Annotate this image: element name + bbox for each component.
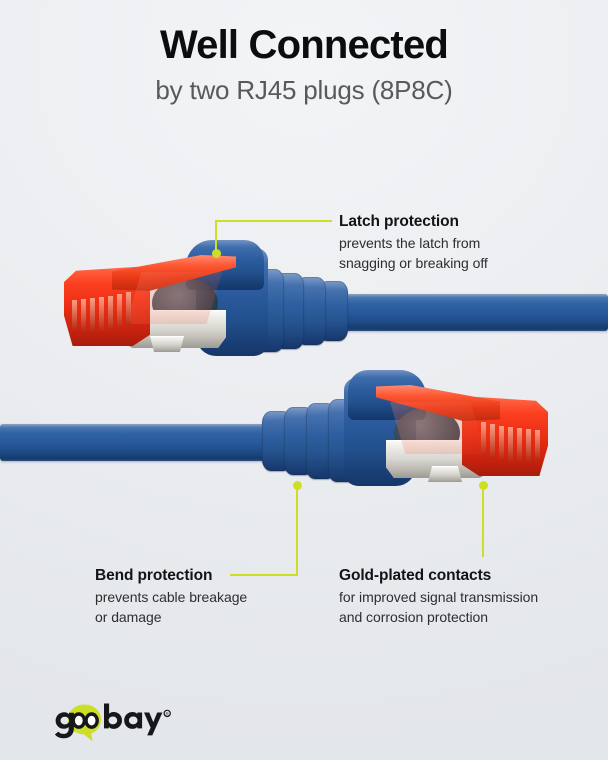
upper-metal-shield-lip [150, 336, 184, 352]
callout-line-1: prevents cable breakage [95, 587, 330, 607]
upper-contact-slot [108, 296, 113, 330]
lower-connector-gloss [390, 402, 486, 454]
lower-metal-shield-lip [428, 466, 462, 482]
lower-contact-slot [526, 429, 531, 461]
goobay-logo: R [48, 702, 188, 742]
page-title: Well Connected [0, 24, 608, 66]
logo-letter-o-2 [86, 714, 97, 727]
callout-line-2: snagging or breaking off [339, 253, 569, 273]
bend-leader-vertical [296, 485, 298, 576]
upper-cable [340, 294, 608, 331]
callout-bend-protection: Bend protection prevents cable breakage … [95, 566, 330, 627]
goobay-logo-svg: R [48, 702, 188, 742]
callout-line-2: and corrosion protection [339, 607, 579, 627]
callout-gold-plated-contacts: Gold-plated contacts for improved signal… [339, 566, 579, 627]
upper-contact-slot [72, 300, 77, 330]
infographic-canvas: Well Connected by two RJ45 plugs (8P8C) [0, 0, 608, 760]
callout-line-1: for improved signal transmission [339, 587, 579, 607]
page-subtitle: by two RJ45 plugs (8P8C) [0, 76, 608, 106]
callout-heading: Gold-plated contacts [339, 566, 579, 585]
upper-contact-slot [126, 292, 131, 325]
logo-letter-o-1 [73, 714, 84, 727]
logo-letter-g [55, 712, 74, 738]
upper-contact-slot [99, 297, 104, 331]
upper-contact-slot [90, 298, 95, 331]
lower-contact-slot [517, 428, 522, 461]
lower-contact-slot [535, 430, 540, 460]
lower-contact-slot [508, 427, 513, 461]
lower-contact-slot [490, 424, 495, 458]
contacts-leader-vertical [482, 485, 484, 557]
logo-letter-y [144, 713, 162, 736]
callout-line-2: or damage [95, 607, 330, 627]
callout-heading: Bend protection [95, 566, 330, 585]
callout-heading: Latch protection [339, 212, 569, 231]
logo-letter-a [124, 712, 142, 729]
lower-contact-slot [481, 422, 486, 455]
lower-contact-slot [499, 426, 504, 460]
upper-connector-gloss [126, 272, 222, 324]
logo-letter-b [104, 704, 122, 729]
upper-contact-slot [81, 299, 86, 331]
callout-line-1: prevents the latch from [339, 233, 569, 253]
latch-leader-vertical [215, 220, 217, 252]
callout-latch-protection: Latch protection prevents the latch from… [339, 212, 569, 273]
lower-cable [0, 424, 272, 461]
upper-contact-slot [117, 294, 122, 328]
latch-leader-horizontal [215, 220, 332, 222]
